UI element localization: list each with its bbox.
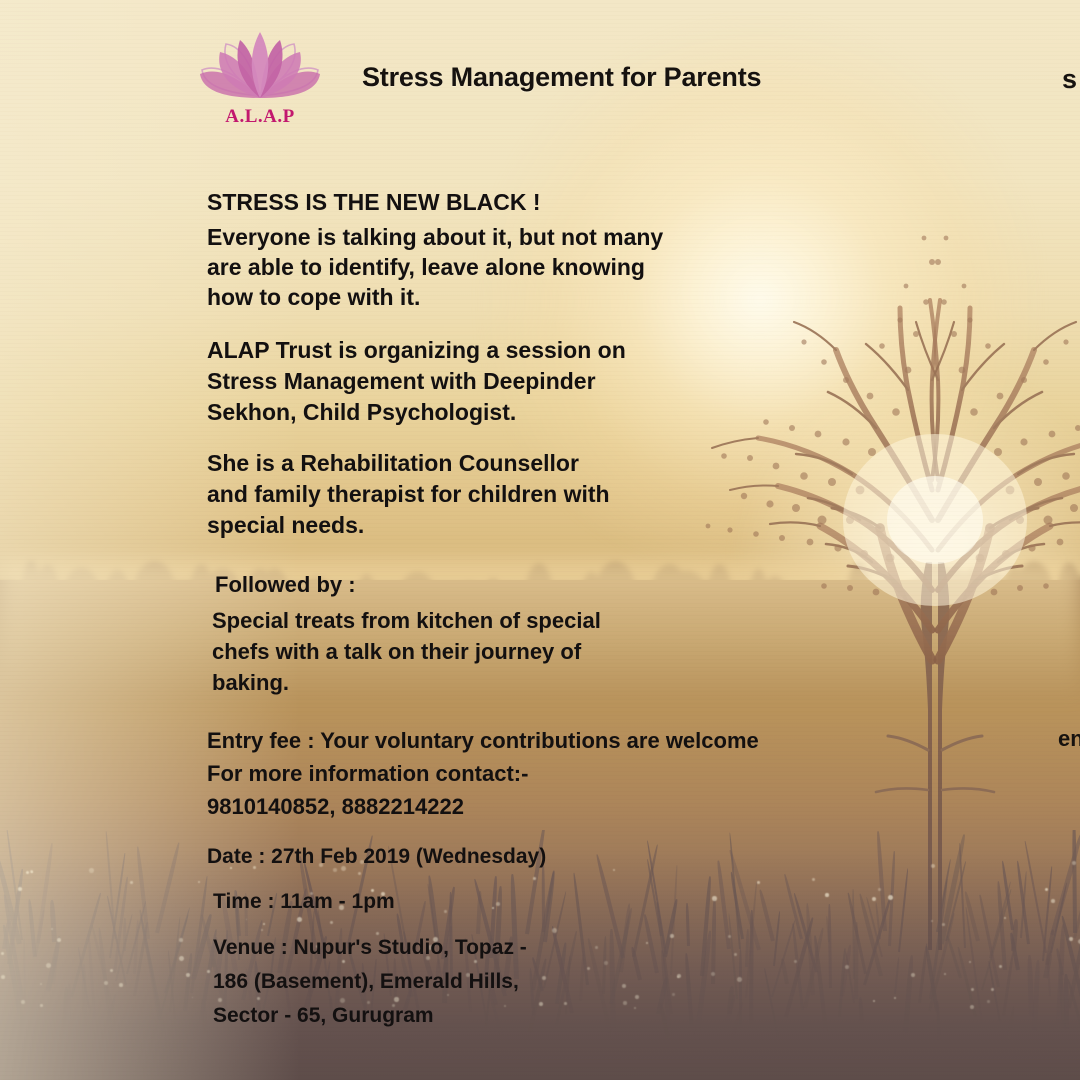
speaker-bio-block: She is a Rehabilitation Counsellor and f… — [207, 448, 610, 541]
date-text: Date : 27th Feb 2019 (Wednesday) — [207, 841, 546, 872]
bio-line-3: special needs. — [207, 510, 610, 541]
followed-by-block: Special treats from kitchen of special c… — [212, 605, 601, 698]
intro-block: Everyone is talking about it, but not ma… — [207, 222, 663, 312]
bio-line-1: She is a Rehabilitation Counsellor — [207, 448, 610, 479]
venue-line-1: Venue : Nupur's Studio, Topaz - — [213, 931, 527, 965]
bio-line-2: and family therapist for children with — [207, 479, 610, 510]
poster-canvas: A.L.A.P Stress Management for Parents s … — [0, 0, 1080, 1080]
venue-block: Venue : Nupur's Studio, Topaz - 186 (Bas… — [213, 931, 527, 1033]
venue-line-3: Sector - 65, Gurugram — [213, 999, 527, 1033]
time-block: Time : 11am - 1pm — [213, 886, 395, 917]
followed-by-label: Followed by : — [215, 570, 356, 600]
venue-line-2: 186 (Basement), Emerald Hills, — [213, 965, 527, 999]
poster-copy: STRESS IS THE NEW BLACK ! Everyone is ta… — [0, 0, 1080, 1080]
intro-line-1: Everyone is talking about it, but not ma… — [207, 222, 663, 252]
session-line-3: Sekhon, Child Psychologist. — [207, 397, 626, 428]
headline-block: STRESS IS THE NEW BLACK ! — [207, 187, 541, 217]
entry-fee-text: Entry fee : Your voluntary contributions… — [207, 724, 759, 757]
session-line-2: Stress Management with Deepinder — [207, 366, 626, 397]
date-block: Date : 27th Feb 2019 (Wednesday) — [207, 841, 546, 872]
treats-line-3: baking. — [212, 667, 601, 698]
contact-numbers[interactable]: 9810140852, 8882214222 — [207, 790, 759, 823]
session-block: ALAP Trust is organizing a session on St… — [207, 335, 626, 428]
contact-label: For more information contact:- — [207, 757, 759, 790]
followed-by-text: Followed by : — [215, 570, 356, 600]
treats-line-2: chefs with a talk on their journey of — [212, 636, 601, 667]
headline-text: STRESS IS THE NEW BLACK ! — [207, 187, 541, 217]
entry-and-contact-block: Entry fee : Your voluntary contributions… — [207, 724, 759, 823]
treats-line-1: Special treats from kitchen of special — [212, 605, 601, 636]
session-line-1: ALAP Trust is organizing a session on — [207, 335, 626, 366]
intro-line-2: are able to identify, leave alone knowin… — [207, 252, 663, 282]
time-text: Time : 11am - 1pm — [213, 886, 395, 917]
intro-line-3: how to cope with it. — [207, 282, 663, 312]
